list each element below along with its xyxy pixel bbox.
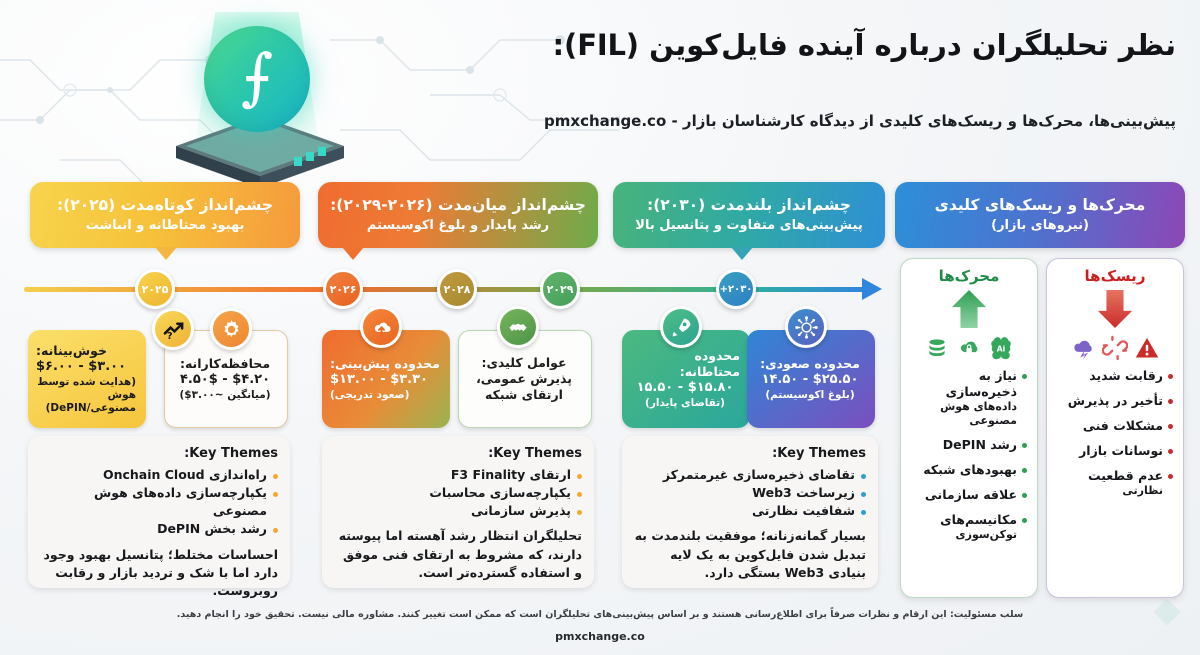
gear-icon [210,308,252,350]
list-item: راه‌اندازی Onchain Cloud [40,466,278,484]
pill-optimistic: خوش‌بینانه: $۳.۰۰ - $۶.۰۰ (هدایت شده توس… [28,330,146,428]
banner-mid-term: چشم‌انداز میان‌مدت (۲۰۲۶-۲۰۲۹): رشد پاید… [318,182,598,248]
themes-heading: Key Themes: [334,446,582,461]
filecoin-logo: ⨍ [150,8,370,188]
filecoin-coin: ⨍ [204,26,310,132]
list-item: بهبودهای شبکه [909,462,1027,478]
watermark-icon [1150,595,1184,629]
risks-icon-row [1055,333,1175,363]
drivers-panel: محرک‌ها Ai نیاز به ذخیره‌سازی داده‌های ه… [900,258,1038,598]
themes-summary: بسیار گمانه‌زنانه؛ موفقیت بلندمدت به تبد… [634,527,866,581]
item-sub: نظارتی [1055,484,1163,498]
pill-range: $۳.۳۰ - $۱۳.۰۰ [330,372,428,389]
trending-up-question-icon: ? [152,308,194,350]
themes-mid-term: Key Themes: ارتقای F3 Finality یکپارچه‌س… [322,436,594,588]
down-arrow-icon [1055,287,1175,331]
banner-long-term: چشم‌انداز بلندمدت (۲۰۳۰): پیش‌بینی‌های م… [613,182,885,248]
themes-short-term: Key Themes: راه‌اندازی Onchain Cloud یکپ… [28,436,290,588]
banner-title: محرک‌ها و ریسک‌های کلیدی [935,196,1146,215]
pill-range: $۲۵.۵۰ - ۱۴.۵۰ [762,372,859,389]
disclaimer-text: سلب مسئولیت: این ارقام و نظرات صرفاً برا… [0,609,1200,620]
pill-title: عوامل کلیدی: [481,355,566,371]
filecoin-glyph: ⨍ [241,46,273,108]
timeline-node-2026[interactable]: ۲۰۲۶ [323,269,363,309]
pill-note: (صعود تدریجی) [330,389,409,402]
list-item: نیاز به ذخیره‌سازی داده‌های هوش مصنوعی [909,368,1027,428]
up-arrow-icon [909,287,1029,331]
list-item: مشکلات فنی [1055,418,1173,434]
list-item: شفافیت نظارتی [634,502,866,520]
banner-short-term: چشم‌انداز کوتاه‌مدت (۲۰۲۵): بهبود محتاطا… [30,182,300,248]
drivers-icon-row: Ai [909,333,1029,363]
list-item: ارتقای F3 Finality [334,466,582,484]
list-item: عدم قطعیت نظارتی [1055,468,1173,498]
drivers-title: محرک‌ها [909,267,1029,285]
pill-note: (بلوغ اکوسیستم) [765,389,854,402]
banner-title: چشم‌انداز کوتاه‌مدت (۲۰۲۵): [57,196,273,215]
pill-range: $۳.۰۰ - $۶.۰۰ [36,359,126,376]
banner-sub: پیش‌بینی‌های متفاوت و پتانسیل بالا [635,218,862,234]
banner-pointer [342,247,364,260]
list-item: تأخیر در پذیرش [1055,393,1173,409]
list-item: زیرساخت Web3 [634,484,866,502]
banner-pointer [731,247,753,260]
pill-range: $۴.۲۰ - ۴.۵۰$ [180,372,270,389]
list-item: پذیرش سازمانی [334,502,582,520]
warning-triangle-icon [1134,335,1160,361]
item-text: نیاز به ذخیره‌سازی [946,368,1017,399]
risks-list: رقابت شدید تأخیر در پذیرش مشکلات فنی نوس… [1055,368,1175,498]
themes-list: راه‌اندازی Onchain Cloud یکپارچه‌سازی دا… [40,466,278,539]
list-item: رشد بخش DePIN [40,520,278,538]
pill-title: خوش‌بینانه: [36,343,107,359]
item-text: عدم قطعیت [1088,468,1163,483]
pill-title: محدوده صعودی: [760,356,860,372]
pill-note: (هدایت شده توسط هوش مصنوعی/DePIN) [36,376,136,415]
item-sub: داده‌های هوش مصنوعی [909,400,1017,428]
list-item: رقابت شدید [1055,368,1173,384]
list-item: رشد DePIN [909,437,1027,453]
svg-text:?: ? [166,331,172,341]
timeline-node-2030[interactable]: ۲۰۳۰+ [716,269,756,309]
banner-drivers-risks: محرک‌ها و ریسک‌های کلیدی (نیروهای بازار) [895,182,1185,248]
banner-title: چشم‌انداز بلندمدت (۲۰۳۰): [647,196,851,215]
list-item: یکپارچه‌سازی داده‌های هوش مصنوعی [40,484,278,520]
timeline-segment-1 [24,287,344,292]
broken-link-icon [1102,335,1128,361]
item-text: مکانیسم‌های [940,512,1017,527]
timeline-node-2028[interactable]: ۲۰۲۸ [437,269,477,309]
list-item: مکانیسم‌های توکن‌سوزی [909,512,1027,542]
pill-title: محدوده محتاطانه: [630,348,740,380]
infographic-canvas: ⨍ نظر تحلیلگران درباره آینده فایل‌کوین (… [0,0,1200,655]
pill-note: (میانگین ~۳.۰۰$) [179,389,270,402]
timeline-arrow-icon [862,278,882,300]
banner-sub: بهبود محتاطانه و انباشت [86,218,245,234]
themes-summary: احساسات مختلط؛ پتانسیل بهبود وجود دارد ا… [40,546,278,600]
site-url: pmxchange.co [0,630,1200,643]
themes-summary: تحلیلگران انتظار رشد آهسته اما پیوسته دا… [334,527,582,581]
list-item: نوسانات بازار [1055,443,1173,459]
themes-list: ارتقای F3 Finality یکپارچه‌سازی محاسبات … [334,466,582,520]
handshake-icon [497,306,539,348]
themes-long-term: Key Themes: تقاضای ذخیره‌سازی غیرمتمرکز … [622,436,878,588]
list-item: علاقه سازمانی [909,487,1027,503]
storm-cloud-icon [1070,335,1096,361]
ai-brain-icon: Ai [988,335,1014,361]
secure-cloud-icon [956,335,982,361]
banner-title: چشم‌انداز میان‌مدت (۲۰۲۶-۲۰۲۹): [330,196,586,215]
network-icon [785,306,827,348]
list-item: تقاضای ذخیره‌سازی غیرمتمرکز [634,466,866,484]
timeline-node-2025[interactable]: ۲۰۲۵ [135,269,175,309]
risks-title: ریسک‌ها [1055,267,1175,285]
pill-title: محدوده پیش‌بینی: [330,356,440,372]
pill-note: (تقاضای پایدار) [645,397,725,410]
svg-text:Ai: Ai [997,344,1005,353]
pill-range: $۱۵.۸۰ - ۱۵.۵۰ [637,380,734,397]
banner-sub: رشد پایدار و بلوغ اکوسیستم [367,218,549,234]
themes-heading: Key Themes: [40,446,278,461]
themes-list: تقاضای ذخیره‌سازی غیرمتمرکز زیرساخت Web3… [634,466,866,520]
rocket-icon [660,306,702,348]
risks-panel: ریسک‌ها رقابت شدید تأخیر در پذیرش مشکلات… [1046,258,1184,598]
coins-icon [924,335,950,361]
pill-note: ارتقای شبکه [485,387,563,403]
timeline-node-2029[interactable]: ۲۰۲۹ [540,269,580,309]
cloud-upload-icon [360,306,402,348]
banner-pointer [155,247,177,260]
page-subtitle: پیش‌بینی‌ها، محرک‌ها و ریسک‌های کلیدی از… [456,112,1176,130]
themes-heading: Key Themes: [634,446,866,461]
item-sub: توکن‌سوزی [909,528,1017,542]
drivers-list: نیاز به ذخیره‌سازی داده‌های هوش مصنوعی ر… [909,368,1029,542]
pill-title: محافظه‌کارانه: [180,356,270,372]
page-title: نظر تحلیلگران درباره آینده فایل‌کوین (FI… [456,28,1176,62]
banner-sub: (نیروهای بازار) [991,218,1089,234]
pill-range: پذیرش عمومی، [476,371,572,387]
list-item: یکپارچه‌سازی محاسبات [334,484,582,502]
